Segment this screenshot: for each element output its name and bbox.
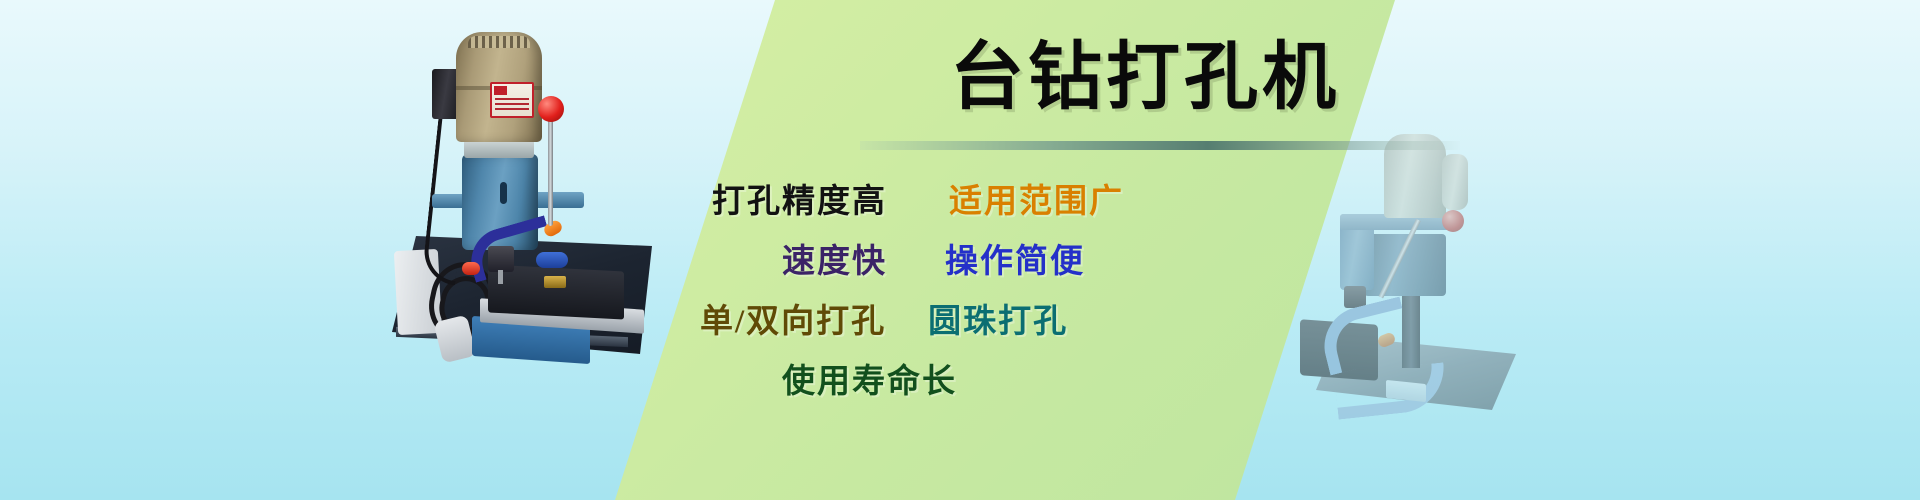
feature-easy-operation: 操作简便 <box>945 232 1085 292</box>
feed-lever-rod <box>548 108 553 226</box>
feature-single-double-drilling: 单/双向打孔 <box>700 292 886 352</box>
feature-row-3: 单/双向打孔 圆珠打孔 <box>690 292 1310 352</box>
feature-drilling-precision: 打孔精度高 <box>712 172 887 232</box>
product-image-left <box>372 14 672 360</box>
machine-right-capacitor <box>1442 154 1468 210</box>
product-image-right <box>1330 110 1566 410</box>
coolant-hose-base <box>462 262 480 275</box>
headline-divider <box>860 141 1460 150</box>
feature-list: 打孔精度高 适用范围广 速度快 操作简便 单/双向打孔 圆珠打孔 使用寿命长 <box>690 172 1310 412</box>
product-banner: 台钻打孔机 打孔精度高 适用范围广 速度快 操作简便 单/双向打孔 圆珠打孔 使… <box>0 0 1920 500</box>
feature-row-1: 打孔精度高 适用范围广 <box>690 172 1310 232</box>
motor-vent-grille <box>468 36 530 48</box>
machine-spindle-slot <box>500 182 507 204</box>
machine-vise-brass-jaw <box>544 276 566 288</box>
feed-lever-knob <box>538 96 564 122</box>
machine-right-arm <box>532 192 584 208</box>
feature-ball-drilling: 圆珠打孔 <box>928 292 1068 352</box>
feature-row-2: 速度快 操作简便 <box>690 232 1310 292</box>
feature-long-service-life: 使用寿命长 <box>782 352 957 412</box>
machine-motor-neck <box>464 140 534 158</box>
motor-spec-label <box>490 82 534 118</box>
machine-right-lever-knob <box>1442 210 1464 232</box>
banner-headline: 台钻打孔机 <box>950 38 1340 118</box>
feature-fast-speed: 速度快 <box>782 232 887 292</box>
feature-row-4: 使用寿命长 <box>690 352 1310 412</box>
feature-wide-application: 适用范围广 <box>949 172 1124 232</box>
